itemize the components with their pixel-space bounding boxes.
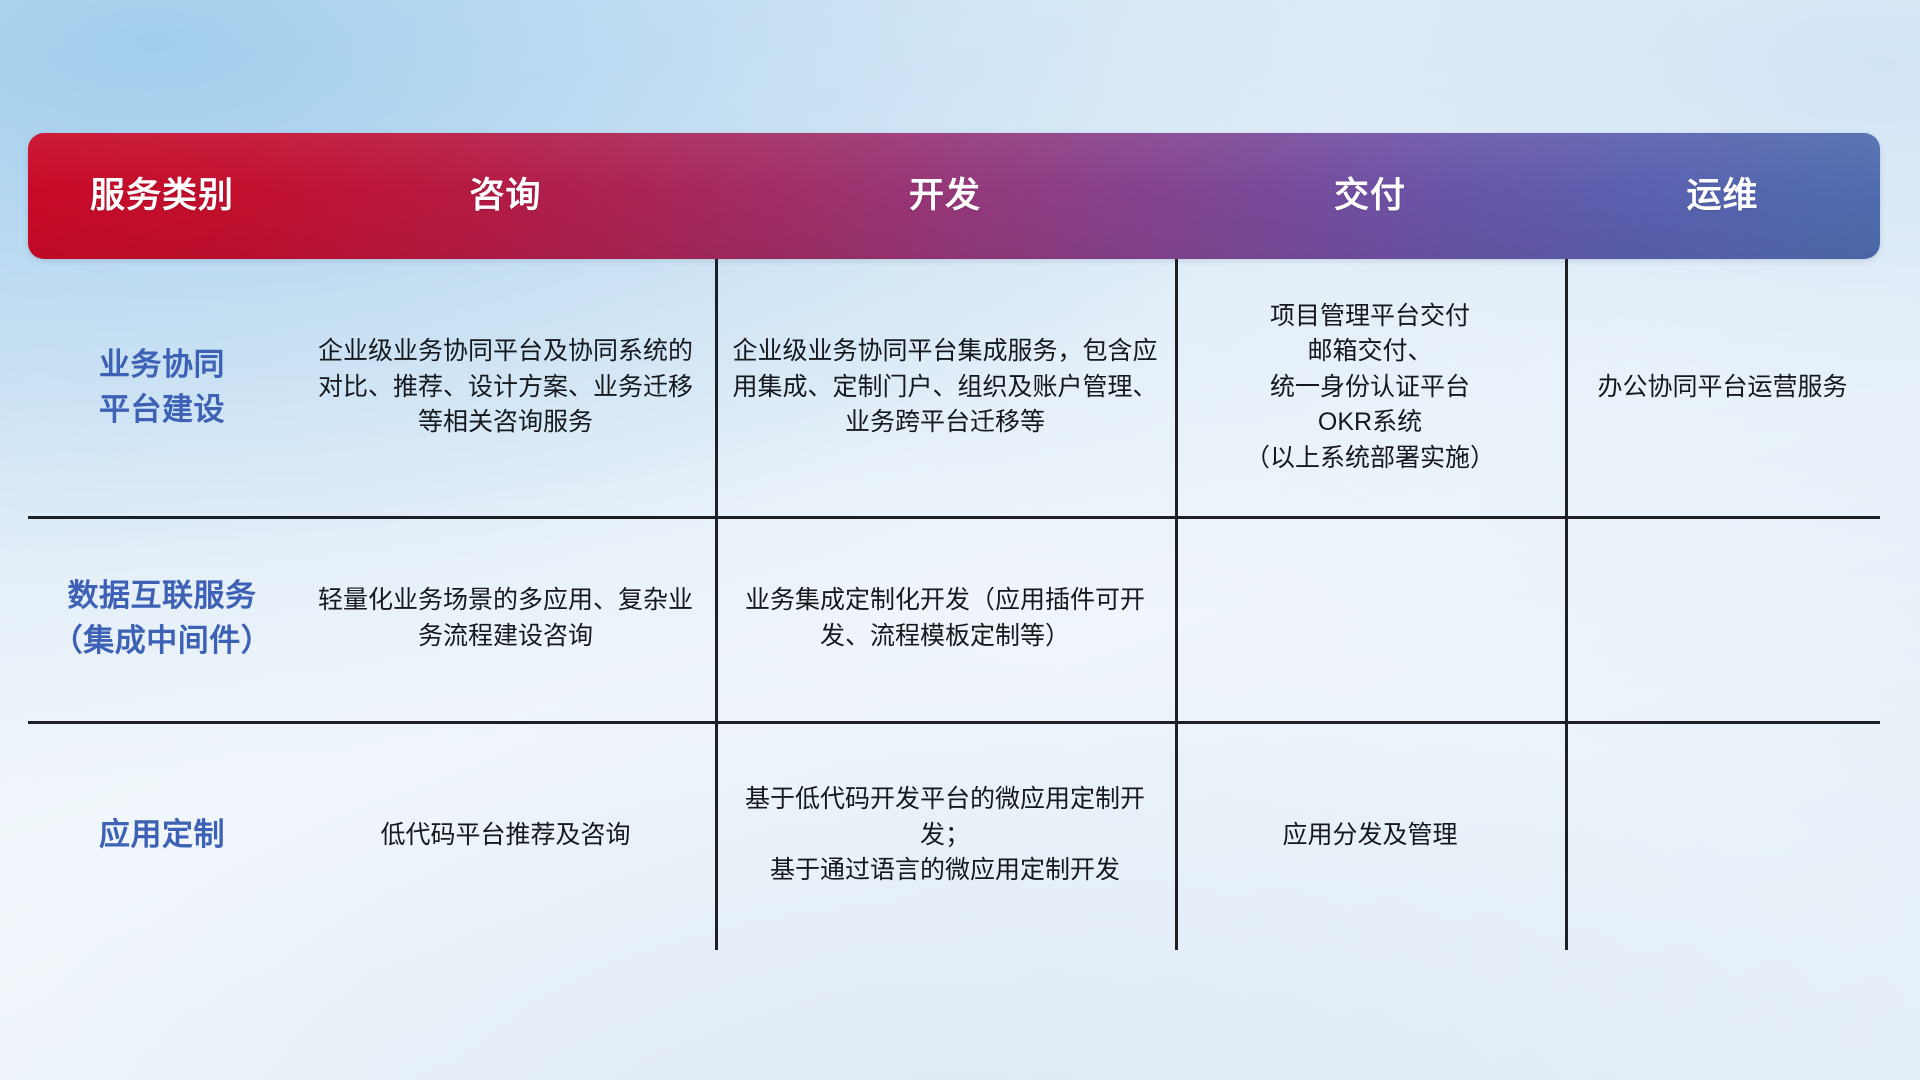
column-divider-delivery-operations bbox=[1565, 259, 1568, 950]
slide-canvas: 服务类别 咨询 开发 交付 运维 业务协同平台建设 企业级业务协同平台及协同系统… bbox=[0, 0, 1920, 1080]
table-header-operations: 运维 bbox=[1565, 177, 1880, 216]
table-row: 应用定制 低代码平台推荐及咨询 基于低代码开发平台的微应用定制开发；基于通过语言… bbox=[28, 721, 1880, 950]
cell-category: 数据互联服务（集成中间件） bbox=[28, 568, 296, 670]
cell-category: 业务协同平台建设 bbox=[28, 337, 296, 439]
cell-development: 企业级业务协同平台集成服务，包含应用集成、定制门户、组织及账户管理、业务跨平台迁… bbox=[715, 328, 1175, 447]
table-header-development: 开发 bbox=[715, 177, 1175, 216]
cell-operations: 办公协同平台运营服务 bbox=[1565, 364, 1880, 412]
service-matrix-table: 服务类别 咨询 开发 交付 运维 业务协同平台建设 企业级业务协同平台及协同系统… bbox=[28, 133, 1880, 950]
cell-operations bbox=[1565, 830, 1880, 842]
cell-operations bbox=[1565, 613, 1880, 625]
cell-delivery bbox=[1175, 613, 1565, 625]
table-row: 数据互联服务（集成中间件） 轻量化业务场景的多应用、复杂业务流程建设咨询 业务集… bbox=[28, 516, 1880, 721]
cell-consulting: 企业级业务协同平台及协同系统的对比、推荐、设计方案、业务迁移等相关咨询服务 bbox=[296, 328, 715, 447]
table-body: 业务协同平台建设 企业级业务协同平台及协同系统的对比、推荐、设计方案、业务迁移等… bbox=[28, 259, 1880, 950]
table-header-consulting: 咨询 bbox=[296, 177, 715, 216]
cell-consulting: 轻量化业务场景的多应用、复杂业务流程建设咨询 bbox=[296, 577, 715, 660]
column-divider-consulting-development bbox=[715, 259, 718, 950]
cell-development: 业务集成定制化开发（应用插件可开发、流程模板定制等） bbox=[715, 577, 1175, 660]
row-divider-1 bbox=[28, 516, 1880, 519]
row-divider-2 bbox=[28, 721, 1880, 724]
cell-delivery: 应用分发及管理 bbox=[1175, 812, 1565, 860]
cell-development: 基于低代码开发平台的微应用定制开发；基于通过语言的微应用定制开发 bbox=[715, 776, 1175, 895]
table-row: 业务协同平台建设 企业级业务协同平台及协同系统的对比、推荐、设计方案、业务迁移等… bbox=[28, 259, 1880, 516]
cell-consulting: 低代码平台推荐及咨询 bbox=[296, 812, 715, 860]
table-header-service-category: 服务类别 bbox=[28, 177, 296, 216]
column-divider-development-delivery bbox=[1175, 259, 1178, 950]
cell-delivery: 项目管理平台交付邮箱交付、统一身份认证平台OKR系统（以上系统部署实施） bbox=[1175, 293, 1565, 483]
table-header-delivery: 交付 bbox=[1175, 177, 1565, 216]
cell-category: 应用定制 bbox=[28, 807, 296, 864]
table-header-row: 服务类别 咨询 开发 交付 运维 bbox=[28, 133, 1880, 259]
